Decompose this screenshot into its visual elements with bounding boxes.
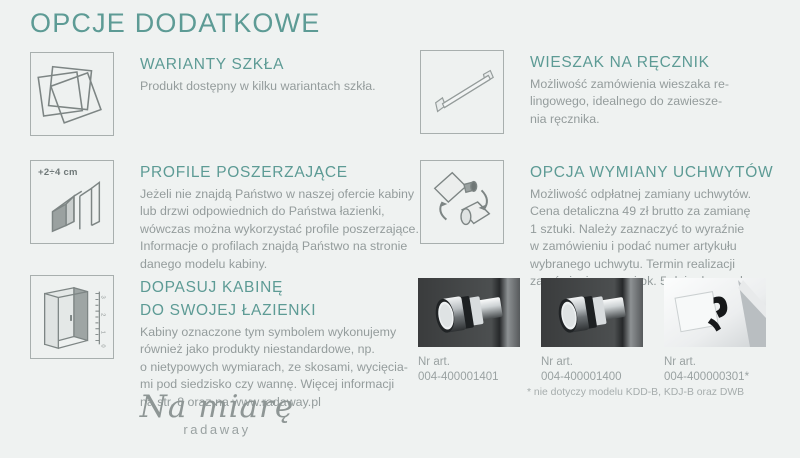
widening-profiles-heading: PROFILE POSZERZAJĄCE (140, 163, 419, 182)
product-caption: Nr art. 004-400001400 (541, 355, 643, 384)
text-line: również jako produkty niestandardowe, np… (140, 341, 408, 358)
text-line: Możliwość odpłatnej zamiany uchwytów. (530, 186, 773, 203)
widening-profile-icon: +2÷4 cm (30, 160, 114, 244)
text-line: lub drzwi odpowiednich do Państwa łazien… (140, 203, 419, 220)
glass-variants-heading: WARIANTY SZKŁA (140, 55, 376, 74)
logo-script-text: Na miarę (122, 390, 312, 424)
svg-text:2: 2 (99, 313, 105, 316)
text-line: o nietypowych wymiarach, ze skosami, wyc… (140, 359, 408, 376)
article-number: 004-400001400 (541, 370, 643, 385)
text-line: Możliwość zamówienia wieszaka re- (530, 76, 729, 93)
text-line: Cena detaliczna 49 zł brutto za zamianę (530, 203, 773, 220)
towel-rail-heading: WIESZAK NA RĘCZNIK (530, 53, 729, 72)
towel-rail-icon (420, 50, 504, 134)
svg-text:1: 1 (99, 331, 105, 334)
towel-rail-text: WIESZAK NA RĘCZNIK Możliwość zamówienia … (530, 50, 729, 128)
product-photo-list: Nr art. 004-400001401 (418, 278, 766, 384)
svg-text:0: 0 (99, 344, 105, 348)
handle-exchange-heading: OPCJA WYMIANY UCHWYTÓW (530, 163, 773, 182)
towel-rail-body: Możliwość zamówienia wieszaka re- lingow… (530, 76, 729, 128)
glass-variants-text: WARIANTY SZKŁA Produkt dostępny w kilku … (140, 52, 376, 95)
list-item: Nr art. 004-400001401 (418, 278, 520, 384)
article-number: 004-400000301* (664, 370, 766, 385)
products-footnote: * nie dotyczy modelu KDD-B, KDJ-B oraz D… (527, 387, 744, 398)
glass-variants-body: Produkt dostępny w kilku wariantach szkł… (140, 78, 376, 95)
feature-handle-exchange: OPCJA WYMIANY UCHWYTÓW Możliwość odpłatn… (420, 160, 773, 290)
text-line: danego modelu kabiny. (140, 256, 419, 273)
text-line: Informacje o profilach znajdą Państwo na… (140, 238, 419, 255)
page-title: OPCJE DODATKOWE (30, 8, 321, 39)
text-line: wybranego uchwytu. Termin realizacji (530, 256, 773, 273)
additional-options-page: OPCJE DODATKOWE WARIANTY SZKŁA Produkt d… (0, 0, 800, 458)
text-line: Jeżeli nie znajdą Państwo w naszej oferc… (140, 186, 419, 203)
fit-cabin-heading: DOPASUJ KABINĘ (140, 278, 408, 297)
feature-widening-profiles: +2÷4 cm PROFILE POSZERZAJĄCE Jeżeli nie … (30, 160, 419, 273)
chrome-knob-handle-photo (541, 278, 643, 347)
article-label: Nr art. (664, 355, 766, 370)
svg-text:3: 3 (99, 296, 105, 299)
fit-cabin-heading-2: DO SWOJEJ ŁAZIENKI (140, 301, 408, 320)
text-line: w zamówieniu i podać numer artykułu (530, 238, 773, 255)
cabin-ruler-icon: 3 2 1 0 (30, 275, 114, 359)
handle-exchange-text: OPCJA WYMIANY UCHWYTÓW Możliwość odpłatn… (530, 160, 773, 290)
handle-swap-icon (420, 160, 504, 244)
text-line: lingowego, idealnego do zawiesze- (530, 93, 729, 110)
list-item: Nr art. 004-400001400 (541, 278, 643, 384)
product-caption: Nr art. 004-400001401 (418, 355, 520, 384)
text-line: wówczas można wykorzystać profile poszer… (140, 221, 419, 238)
article-label: Nr art. (541, 355, 643, 370)
text-line: Produkt dostępny w kilku wariantach szkł… (140, 78, 376, 95)
hook-handle-photo (664, 278, 766, 347)
widening-profiles-text: PROFILE POSZERZAJĄCE Jeżeli nie znajdą P… (140, 160, 419, 273)
chrome-knob-handle-photo (418, 278, 520, 347)
feature-glass-variants: WARIANTY SZKŁA Produkt dostępny w kilku … (30, 52, 376, 136)
glass-panes-icon (30, 52, 114, 136)
na-miare-logo: Na miarę radaway (122, 390, 312, 437)
product-caption: Nr art. 004-400000301* (664, 355, 766, 384)
text-line: 1 sztuki. Należy zaznaczyć to wyraźnie (530, 221, 773, 238)
widening-profiles-body: Jeżeli nie znajdą Państwo w naszej oferc… (140, 186, 419, 273)
text-line: Kabiny oznaczone tym symbolem wykonujemy (140, 324, 408, 341)
profile-width-badge: +2÷4 cm (38, 167, 78, 178)
feature-towel-rail: WIESZAK NA RĘCZNIK Możliwość zamówienia … (420, 50, 729, 134)
handle-exchange-body: Możliwość odpłatnej zamiany uchwytów. Ce… (530, 186, 773, 290)
article-number: 004-400001401 (418, 370, 520, 385)
list-item: Nr art. 004-400000301* (664, 278, 766, 384)
article-label: Nr art. (418, 355, 520, 370)
text-line: nia ręcznika. (530, 111, 729, 128)
